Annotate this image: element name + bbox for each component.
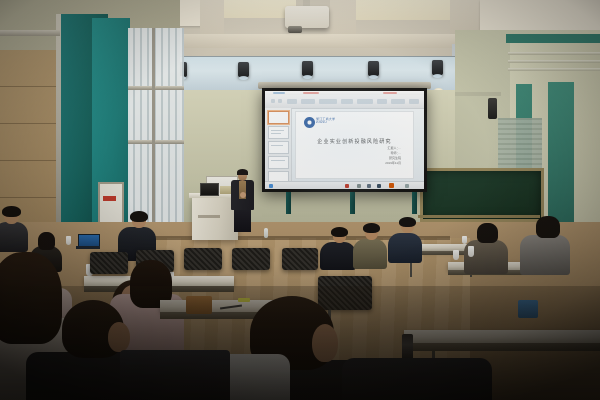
slide-thumbnail-4[interactable]	[268, 156, 289, 169]
floor-shadow	[0, 286, 600, 400]
spotlight-4	[368, 61, 379, 76]
projector-icon	[285, 6, 329, 28]
taskbar-icon-4[interactable]	[377, 184, 381, 188]
column-cap	[506, 34, 600, 43]
attendee-back-2-body	[0, 222, 28, 252]
spotlight-2	[238, 62, 249, 77]
attendee-back-5-body	[353, 239, 387, 269]
screen-leg-right	[412, 192, 417, 214]
slide-thumbnail-1[interactable]	[268, 111, 289, 124]
slide-metadata: 汇报人：··· 导师：··· 研究生院 2019年11月	[385, 146, 401, 166]
green-chalkboard	[420, 168, 544, 222]
column-line-2	[508, 60, 600, 63]
laptop-base	[76, 246, 100, 249]
column-line-1	[508, 52, 600, 55]
lecture-hall-photo: 浙江工商大学 ZJGSU 企业实业创新投融风险研究 汇报人：··· 导师：···…	[0, 0, 600, 400]
chair-mid-5	[282, 248, 318, 270]
ribbon-tab-other	[383, 92, 397, 94]
ribbon-icon-7	[357, 99, 373, 104]
glass-rail-2	[128, 140, 184, 144]
slide-organization: 浙江工商大学 ZJGSU	[316, 118, 335, 125]
powerpoint-ribbon[interactable]	[265, 91, 424, 109]
slide-thumbnail-panel[interactable]	[265, 108, 292, 182]
presenter-hair	[237, 169, 248, 175]
taskbar-icon-5[interactable]	[389, 183, 394, 188]
taskbar-icon-1[interactable]	[345, 184, 349, 188]
glass-rail-1	[128, 86, 184, 90]
cup-right-1	[453, 250, 459, 260]
cup-right-3	[462, 236, 467, 244]
column-green-panel-2	[548, 82, 574, 237]
wall-speaker-icon	[488, 98, 497, 119]
chair-mid-3	[184, 248, 222, 270]
cup-back-1	[66, 236, 71, 245]
column-line-3	[508, 68, 600, 71]
ribbon-icon-8	[377, 99, 387, 104]
attendee-right-2-body	[520, 235, 570, 275]
ribbon-tab-active	[303, 92, 319, 94]
attendee-back-4-hair	[331, 227, 348, 237]
university-logo-icon	[304, 117, 315, 128]
lectern-monitor	[200, 183, 219, 196]
ceiling-glow-right	[356, 0, 450, 20]
wall-trim-left	[0, 30, 60, 36]
slide-canvas[interactable]: 浙江工商大学 ZJGSU 企业实业创新投融风险研究 汇报人：··· 导师：···…	[295, 111, 414, 179]
taskbar-icon-2[interactable]	[357, 184, 361, 188]
presenter-hands	[240, 192, 246, 198]
wall-trim-right	[455, 92, 501, 96]
pillar-trim	[56, 14, 61, 239]
chair-mid-1	[90, 252, 128, 274]
chair-mid-4	[232, 248, 270, 270]
lectern-plaque	[198, 215, 220, 218]
slide-thumbnail-2[interactable]	[268, 126, 289, 139]
exit-sign-icon	[103, 196, 116, 201]
ceiling-coffer-b	[480, 0, 600, 30]
projector-lens-icon	[288, 26, 302, 33]
taskbar-clock[interactable]	[405, 184, 409, 188]
attendee-back-5-hair	[363, 223, 380, 233]
ribbon-tab-row	[265, 91, 424, 95]
screen-leg-mid	[350, 192, 355, 214]
attendee-back-3-hair	[130, 211, 148, 222]
screen-leg-left	[286, 192, 291, 214]
ribbon-icon-5	[319, 99, 337, 104]
attendee-back-6-hair	[399, 217, 416, 227]
glass-mullion	[152, 28, 155, 223]
ribbon-tab-file	[273, 92, 285, 94]
water-bottle-front	[264, 228, 268, 238]
glass-block-window	[128, 28, 184, 223]
ribbon-icon-1	[271, 99, 275, 103]
taskbar-icon-3[interactable]	[367, 184, 371, 188]
attendee-back-6-body	[388, 233, 422, 263]
attendee-right-2-hair	[536, 216, 560, 238]
attendee-back-4-body	[320, 242, 356, 270]
chalk-tray	[418, 215, 540, 218]
presenter-legs	[234, 208, 251, 232]
cup-right-2	[468, 246, 474, 257]
ribbon-icon-4	[301, 99, 315, 104]
attendee-back-2-hair	[2, 206, 21, 217]
projection-screen: 浙江工商大学 ZJGSU 企业实业创新投融风险研究 汇报人：··· 导师：···…	[262, 88, 427, 192]
windows-taskbar[interactable]	[265, 181, 424, 189]
screen-surface: 浙江工商大学 ZJGSU 企业实业创新投融风险研究 汇报人：··· 导师：···…	[265, 91, 424, 189]
ceiling-band	[160, 34, 490, 48]
attendee-right-1-hair	[477, 223, 498, 243]
spotlight-3	[302, 61, 313, 76]
taskbar-start-icon[interactable]	[269, 184, 273, 188]
ribbon-icon-10	[409, 99, 419, 104]
ribbon-icon-9	[391, 99, 405, 104]
spotlight-5	[432, 60, 443, 75]
slide-date: 2019年11月	[385, 161, 401, 166]
slide-title: 企业实业创新投融风险研究	[296, 138, 413, 145]
attendee-back-1-hair	[38, 232, 55, 250]
ribbon-icon-6	[341, 99, 353, 104]
slide-thumbnail-3[interactable]	[268, 141, 289, 154]
ribbon-icon-3	[287, 99, 297, 104]
slide-org-sub: ZJGSU	[316, 121, 335, 124]
ribbon-icon-2	[278, 99, 282, 103]
